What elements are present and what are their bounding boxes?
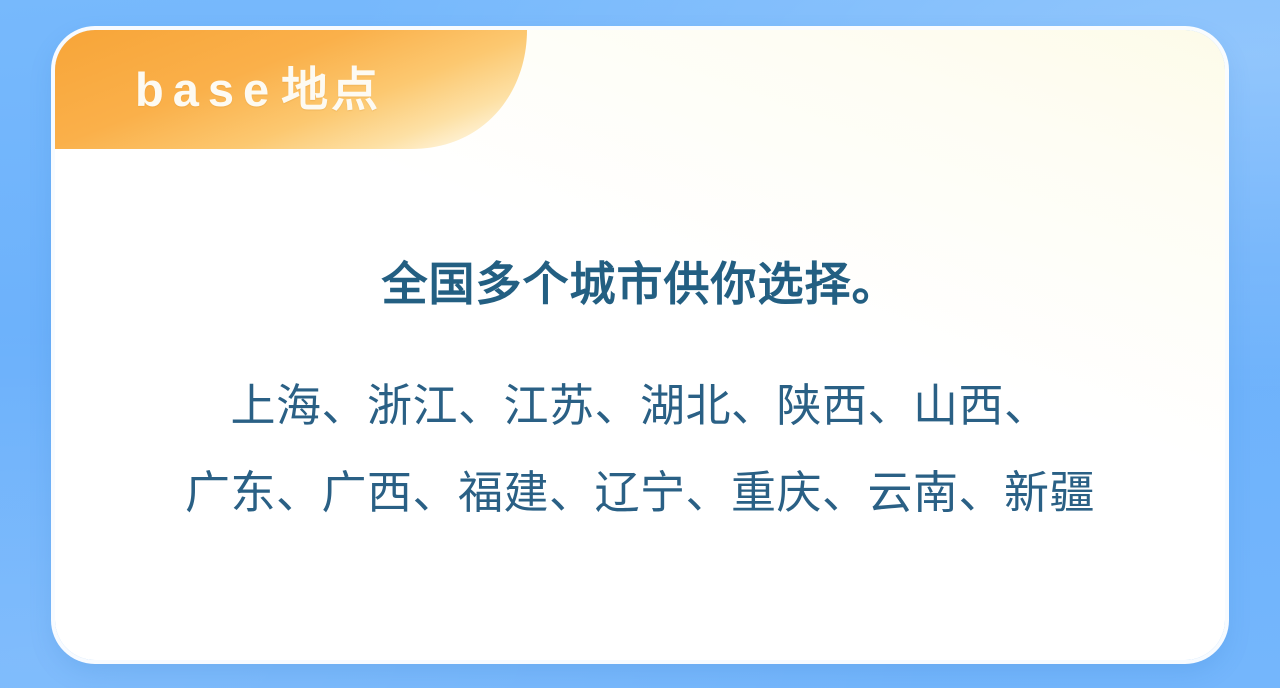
banner-title-latin: base <box>135 66 281 113</box>
section-banner: base地点 <box>55 30 655 149</box>
city-line: 上海、浙江、江苏、湖北、陕西、山西、 <box>185 362 1095 450</box>
banner-title-cjk: 地点 <box>281 66 381 113</box>
slide-canvas: base地点 全国多个城市供你选择。 上海、浙江、江苏、湖北、陕西、山西、 广东… <box>0 0 1280 688</box>
city-list: 上海、浙江、江苏、湖北、陕西、山西、 广东、广西、福建、辽宁、重庆、云南、新疆 <box>185 362 1095 538</box>
info-card: base地点 全国多个城市供你选择。 上海、浙江、江苏、湖北、陕西、山西、 广东… <box>55 30 1225 660</box>
city-line: 广东、广西、福建、辽宁、重庆、云南、新疆 <box>185 449 1095 537</box>
card-body: 全国多个城市供你选择。 上海、浙江、江苏、湖北、陕西、山西、 广东、广西、福建、… <box>55 149 1225 660</box>
page-title: 全国多个城市供你选择。 <box>382 259 899 310</box>
banner-title: base地点 <box>135 30 381 149</box>
